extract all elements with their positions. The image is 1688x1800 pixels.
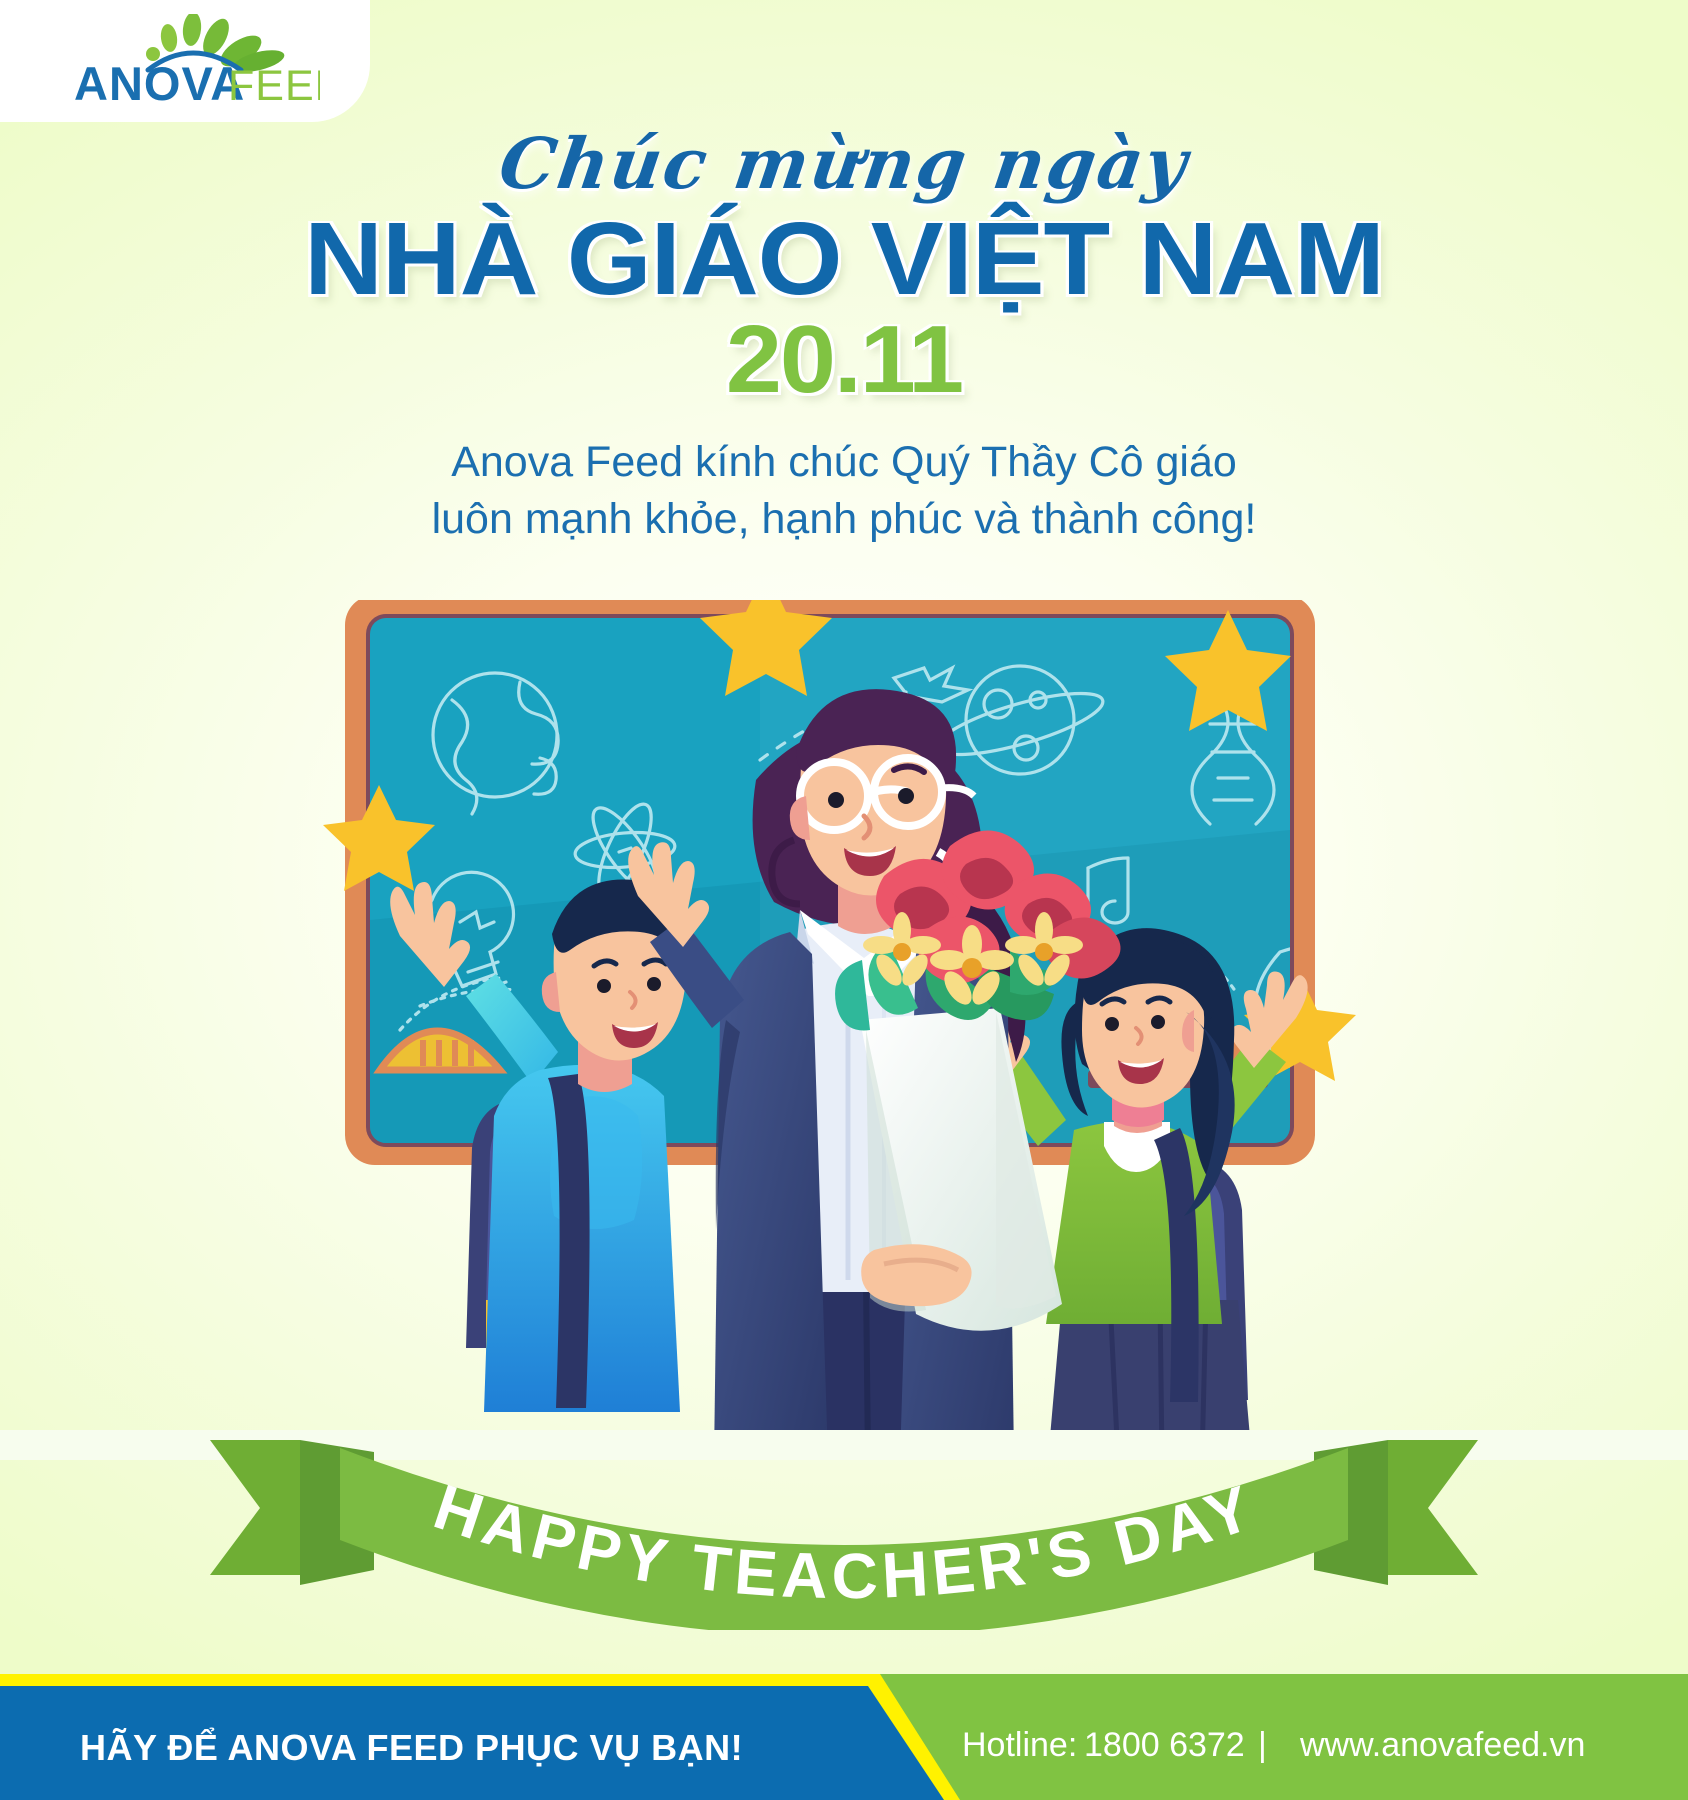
poster-canvas: ANOVA FEED Chúc mừng ngày NHÀ GIÁO VIỆT … [0, 0, 1688, 1800]
teacher-eye [898, 788, 914, 804]
headline-date: 20.11 [0, 312, 1688, 408]
happy-teachers-day-ribbon: HAPPY TEACHER'S DAY [0, 1390, 1688, 1630]
boy-eye [597, 979, 611, 993]
footer-hotline-number: 1800 6372 [1084, 1726, 1245, 1764]
illustration-teacher-students [0, 600, 1688, 1460]
ribbon-tail-notch-right [1388, 1440, 1478, 1575]
footer-hotline-label: Hotline: [962, 1726, 1077, 1764]
leaf-icon [159, 23, 179, 53]
headline-main-title: NHÀ GIÁO VIỆT NAM [0, 207, 1688, 310]
footer-slogan: HÃY ĐỂ ANOVA FEED PHỤC VỤ BẠN! [80, 1726, 743, 1768]
logo-plate: ANOVA FEED [0, 0, 370, 122]
subtitle-line-2: luôn mạnh khỏe, hạnh phúc và thành công! [0, 491, 1688, 549]
boy-eye [647, 977, 661, 991]
girl-eye [1105, 1017, 1119, 1031]
headline-block: Chúc mừng ngày NHÀ GIÁO VIỆT NAM 20.11 A… [0, 128, 1688, 549]
logo-svg: ANOVA FEED [52, 14, 320, 106]
headline-script: Chúc mừng ngày [0, 128, 1688, 201]
teacher-hand-holding [861, 1244, 971, 1306]
subtitle-line-1: Anova Feed kính chúc Quý Thầy Cô giáo [0, 434, 1688, 492]
logo-anova-text: ANOVA [74, 57, 245, 106]
ribbon-tail-notch-left [210, 1440, 300, 1575]
footer-svg: HÃY ĐỂ ANOVA FEED PHỤC VỤ BẠN! Hotline: … [0, 1674, 1688, 1800]
leaf-icon [181, 14, 202, 47]
illustration-svg [0, 600, 1688, 1460]
teacher-eye [828, 792, 844, 808]
footer-separator: | [1258, 1726, 1267, 1764]
headline-subtitle: Anova Feed kính chúc Quý Thầy Cô giáo lu… [0, 434, 1688, 549]
logo-feed-text: FEED [228, 62, 320, 106]
footer-bar: HÃY ĐỂ ANOVA FEED PHỤC VỤ BẠN! Hotline: … [0, 1674, 1688, 1800]
girl-eye [1151, 1015, 1165, 1029]
ribbon-svg: HAPPY TEACHER'S DAY [0, 1390, 1688, 1630]
footer-website[interactable]: www.anovafeed.vn [1299, 1726, 1585, 1764]
anova-feed-logo[interactable]: ANOVA FEED [52, 14, 320, 106]
